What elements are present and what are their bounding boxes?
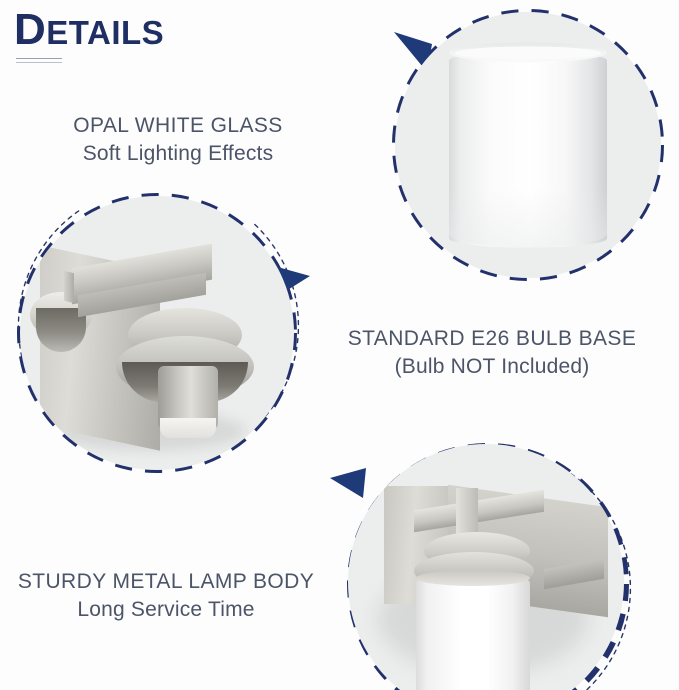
caption-metal-body: STURDY METAL LAMP BODY Long Service Time: [2, 568, 330, 624]
caption-opal-glass: OPAL WHITE GLASS Soft Lighting Effects: [28, 112, 328, 168]
metal-lamp-body-circle: [2, 188, 312, 488]
page-title: DETAILS: [14, 8, 164, 52]
details-infographic-page: DETAILS OPAL WHITE GLASS Soft Lighting E…: [0, 0, 679, 690]
lamp-mount-tab: [64, 271, 74, 303]
opal-glass-disc: [395, 12, 661, 278]
opal-glass-circle: [370, 0, 679, 304]
caption-e26-base-line2: (Bulb NOT Included): [318, 353, 666, 381]
caption-e26-base-line1: STANDARD E26 BULB BASE: [318, 325, 666, 353]
metal-lamp-body-disc: [20, 196, 294, 470]
fixture-disc: [348, 444, 624, 690]
caption-metal-body-line1: STURDY METAL LAMP BODY: [2, 568, 330, 596]
opal-glass-cylinder-rim: [449, 43, 607, 63]
caption-metal-body-line2: Long Service Time: [2, 596, 330, 624]
caption-opal-glass-line2: Soft Lighting Effects: [28, 140, 328, 168]
metal-lamp-body-photo: [20, 196, 294, 470]
opal-glass-cylinder-body: [449, 52, 607, 248]
opal-glass-shade-photo: [449, 43, 607, 248]
page-title-initial: D: [14, 5, 46, 54]
caption-e26-base: STANDARD E26 BULB BASE (Bulb NOT Include…: [318, 325, 666, 381]
fixture-shade-rim: [416, 570, 530, 586]
caption-opal-glass-line1: OPAL WHITE GLASS: [28, 112, 328, 140]
opal-glass-cylinder-opening: [455, 47, 601, 60]
page-title-text: DETAILS: [14, 8, 164, 52]
fixture-photo: [348, 444, 624, 690]
page-title-rest: ETAILS: [46, 14, 164, 51]
opal-glass-bottom-shading: [449, 188, 607, 248]
fixture-circle: [330, 432, 650, 690]
e26-socket-insulator: [160, 418, 216, 438]
fixture-opal-shade: [416, 572, 530, 690]
title-underline-bottom: [16, 62, 62, 63]
title-underline-top: [16, 58, 62, 59]
